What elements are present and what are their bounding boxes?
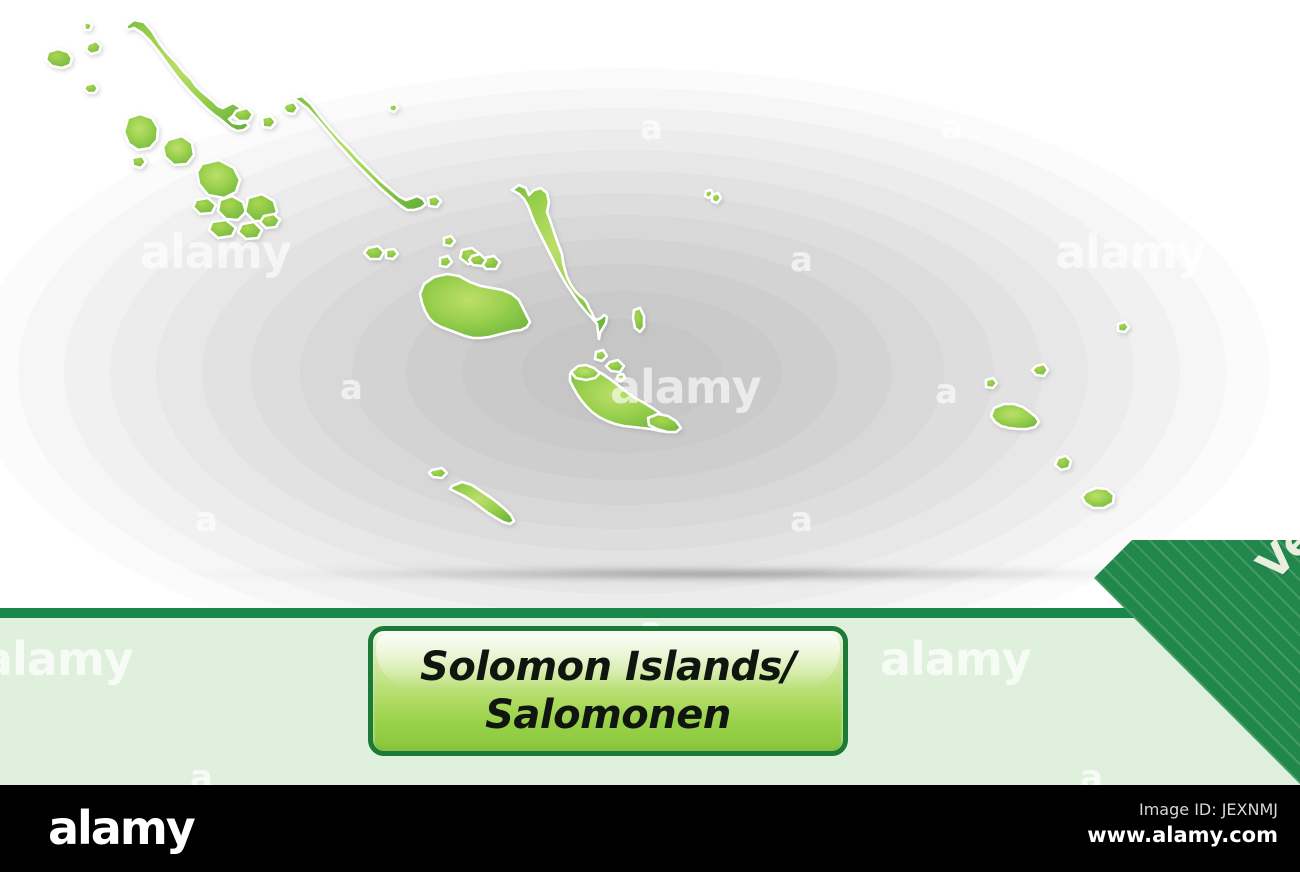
island-utupua	[1055, 456, 1071, 470]
island-islet-15	[386, 249, 398, 259]
island-islet-18	[440, 256, 452, 267]
island-islet-4	[193, 198, 216, 214]
island-islet-small-1	[84, 83, 98, 93]
island-fauro	[163, 136, 194, 165]
island-speck-3	[389, 104, 398, 112]
island-nggela	[606, 360, 624, 372]
alamy-watermark-bar: alamy Image ID: JEXNMJ www.alamy.com	[0, 785, 1300, 872]
island-speck-1	[705, 190, 713, 198]
island-nissan	[46, 49, 72, 68]
island-russell-1	[469, 254, 486, 266]
island-islet-24	[1118, 322, 1129, 332]
island-islet-13	[428, 196, 441, 207]
map-title-text: Solomon Islands/ Salomonen	[420, 643, 796, 739]
watermark-alamy: alamy	[0, 632, 133, 686]
island-islet-small-2	[84, 22, 92, 30]
map-canvas: alamy alamy alamy a a a a a a a	[0, 0, 1300, 608]
map-title-badge[interactable]: Solomon Islands/ Salomonen	[368, 626, 848, 756]
island-shortland	[124, 114, 158, 150]
vector-map-graphic	[0, 0, 1300, 608]
watermark-a: a	[190, 758, 212, 785]
image-id-label: Image ID: JEXNMJ	[1087, 799, 1278, 821]
island-islet-3	[132, 156, 146, 168]
alamy-url-label[interactable]: www.alamy.com	[1087, 821, 1278, 849]
island-green-islets	[86, 41, 101, 54]
island-tikopia	[1032, 364, 1048, 376]
island-islet-14	[364, 246, 384, 259]
island-islet-9	[260, 214, 280, 228]
island-islet-22	[595, 350, 607, 361]
alamy-bar-right: Image ID: JEXNMJ www.alamy.com	[1087, 799, 1278, 849]
island-vanikoro	[1082, 488, 1114, 508]
island-islet-12	[262, 116, 276, 128]
island-islet-10	[283, 102, 298, 114]
watermark-alamy: alamy	[880, 632, 1031, 686]
screenshot-root: alamy alamy alamy a a a a a a a alamy al…	[0, 0, 1300, 872]
alamy-logo: alamy	[48, 805, 194, 851]
island-islet-23	[986, 378, 997, 388]
island-speck-2	[617, 374, 625, 381]
island-islet-20	[633, 308, 644, 332]
island-islet-19	[444, 236, 455, 246]
watermark-a: a	[1080, 758, 1102, 785]
island-bellona	[429, 468, 447, 478]
island-islet-11	[233, 108, 253, 121]
